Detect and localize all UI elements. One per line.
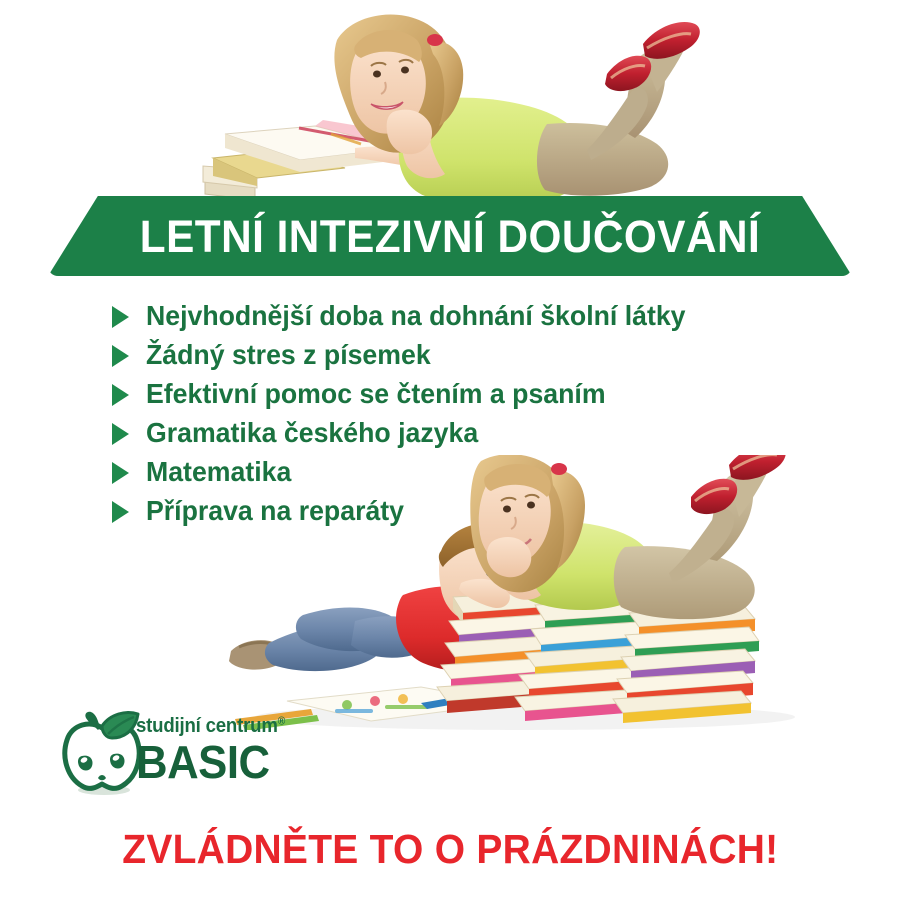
triangle-bullet-icon — [112, 423, 129, 445]
photo-kids-with-books-svg — [225, 455, 805, 730]
headline-banner — [48, 196, 852, 276]
brand-logo[interactable]: studijní centrum® BASIC — [58, 704, 318, 796]
girl-shoe-1 — [643, 22, 700, 59]
girl2-pants — [614, 546, 755, 619]
triangle-bullet-icon — [112, 462, 129, 484]
list-item-label: Žádný stres z písemek — [146, 341, 431, 369]
poster-root: LETNÍ INTEZIVNÍ DOUČOVÁNÍ Nejvhodnější d… — [0, 0, 900, 900]
tagline-wrap: ZVLÁDNĚTE TO O PRÁZDNINÁCH! — [0, 829, 900, 870]
girl2-eye-left — [503, 506, 511, 513]
list-item[interactable]: Gramatika českého jazyka — [112, 414, 872, 452]
apple-logo-svg — [58, 706, 146, 796]
triangle-bullet-icon — [112, 345, 129, 367]
tagline-text: ZVLÁDNĚTE TO O PRÁZDNINÁCH! — [122, 829, 778, 870]
girl-on-books-figure — [459, 455, 786, 619]
photo-girl-reading-svg — [195, 8, 705, 218]
registered-mark-icon: ® — [278, 715, 285, 727]
girl2-eye-right — [527, 502, 535, 509]
triangle-bullet-icon — [112, 306, 129, 328]
triangle-bullet-icon — [112, 384, 129, 406]
apple-logo-icon — [58, 706, 146, 796]
logo-wordmark: BASIC — [136, 739, 288, 785]
list-item-label: Nejvhodnější doba na dohnání školní látk… — [146, 302, 686, 330]
girl2-hair-tie — [551, 463, 567, 475]
list-item-label: Gramatika českého jazyka — [146, 419, 478, 447]
list-item-label: Efektivní pomoc se čtením a psaním — [146, 380, 606, 408]
triangle-bullet-icon — [112, 501, 129, 523]
photo-girl-reading — [195, 8, 705, 218]
girl-eye-right — [401, 67, 409, 74]
photo-kids-with-books — [225, 455, 805, 730]
girl-eye-left — [373, 71, 381, 78]
logo-subtitle-text: studijní centrum — [136, 715, 278, 737]
hair-tie — [427, 34, 443, 46]
logo-wordmark-block: studijní centrum® BASIC — [136, 716, 296, 785]
logo-subtitle: studijní centrum® — [136, 716, 285, 736]
list-item[interactable]: Nejvhodnější doba na dohnání školní látk… — [112, 297, 872, 335]
list-item[interactable]: Žádný stres z písemek — [112, 336, 872, 374]
list-item[interactable]: Efektivní pomoc se čtením a psaním — [112, 375, 872, 413]
